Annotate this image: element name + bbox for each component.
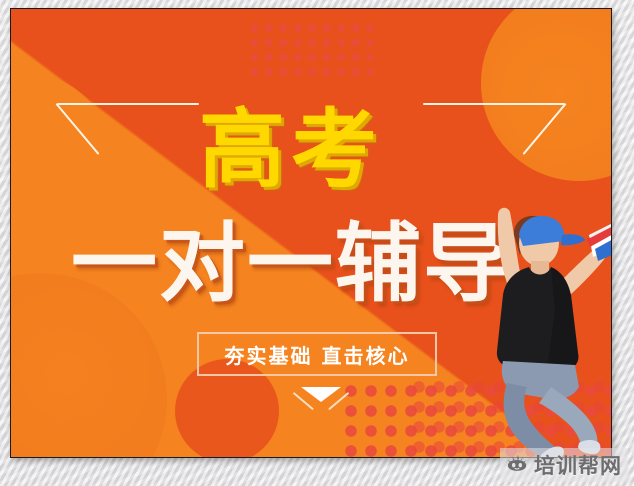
jumping-student-illustration	[467, 191, 612, 458]
chevron-down-icon	[293, 387, 349, 425]
sun-face-icon	[506, 454, 528, 476]
watermark: 培训帮网	[500, 448, 628, 482]
tagline-box: 夯实基础 直击核心	[197, 332, 437, 376]
tagline-text: 夯实基础 直击核心	[225, 340, 410, 369]
watermark-text: 培训帮网	[534, 450, 622, 480]
promo-banner: 高考 一对一辅导 夯实基础 直击核心	[10, 8, 612, 458]
poster-title-main: 高考	[11, 107, 571, 193]
poster-root: 高考 一对一辅导 夯实基础 直击核心	[0, 0, 634, 486]
